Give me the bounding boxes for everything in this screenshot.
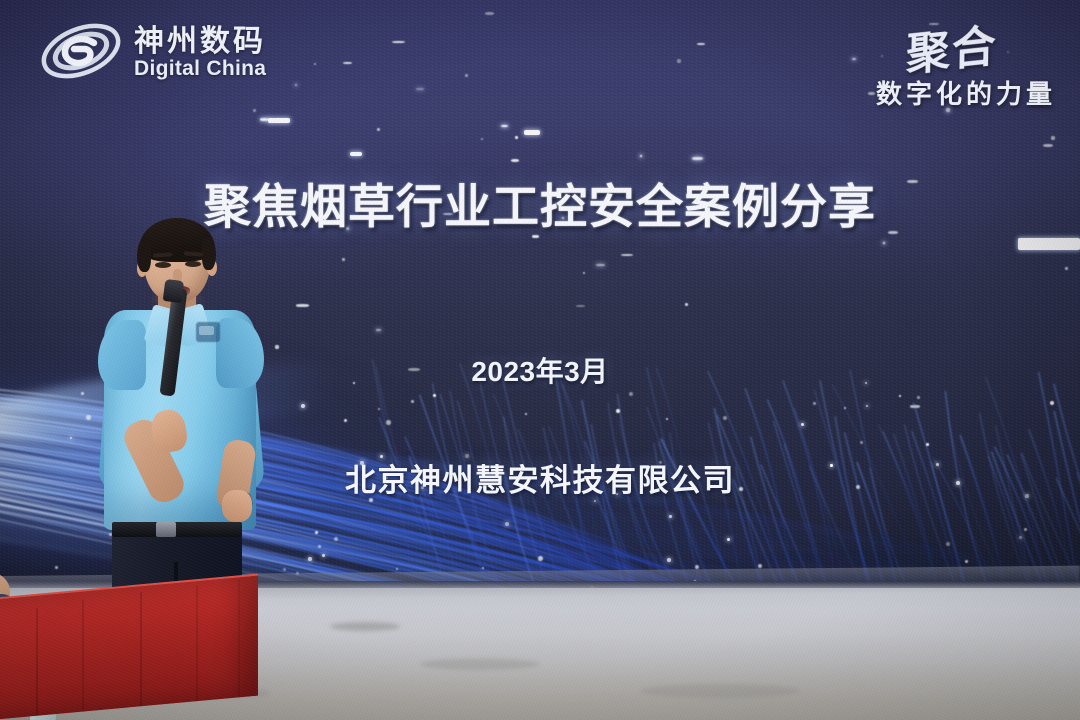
digital-china-logo: 神州数码 Digital China	[38, 16, 266, 86]
speaker-chest-logo-inner	[199, 326, 214, 335]
logo-name-en: Digital China	[134, 58, 266, 80]
foreground-head-table	[0, 580, 270, 720]
speaker-belt-buckle	[156, 522, 176, 537]
microphone-head	[163, 279, 185, 303]
digital-china-swirl-mark	[38, 16, 124, 86]
speaker-right-hand	[222, 490, 252, 522]
speaker-person	[96, 222, 276, 622]
conference-stage-photo: 神州数码 Digital China 聚合 数字化的力量 聚焦烟草行业工控安全案…	[0, 0, 1080, 720]
speaker-belt	[112, 522, 242, 537]
logo-name-cn: 神州数码	[134, 26, 266, 58]
speaker-hair-left	[137, 238, 151, 272]
speaker-right-shoulder	[216, 318, 264, 388]
event-slogan: 聚合 数字化的力量	[786, 14, 1056, 111]
speaker-hair-right	[202, 237, 216, 270]
speaker-eye-right	[185, 261, 201, 267]
speaker-eye-left	[155, 262, 171, 268]
slogan-calligraphy: 聚合	[906, 9, 999, 83]
red-table-cloth	[0, 576, 258, 720]
